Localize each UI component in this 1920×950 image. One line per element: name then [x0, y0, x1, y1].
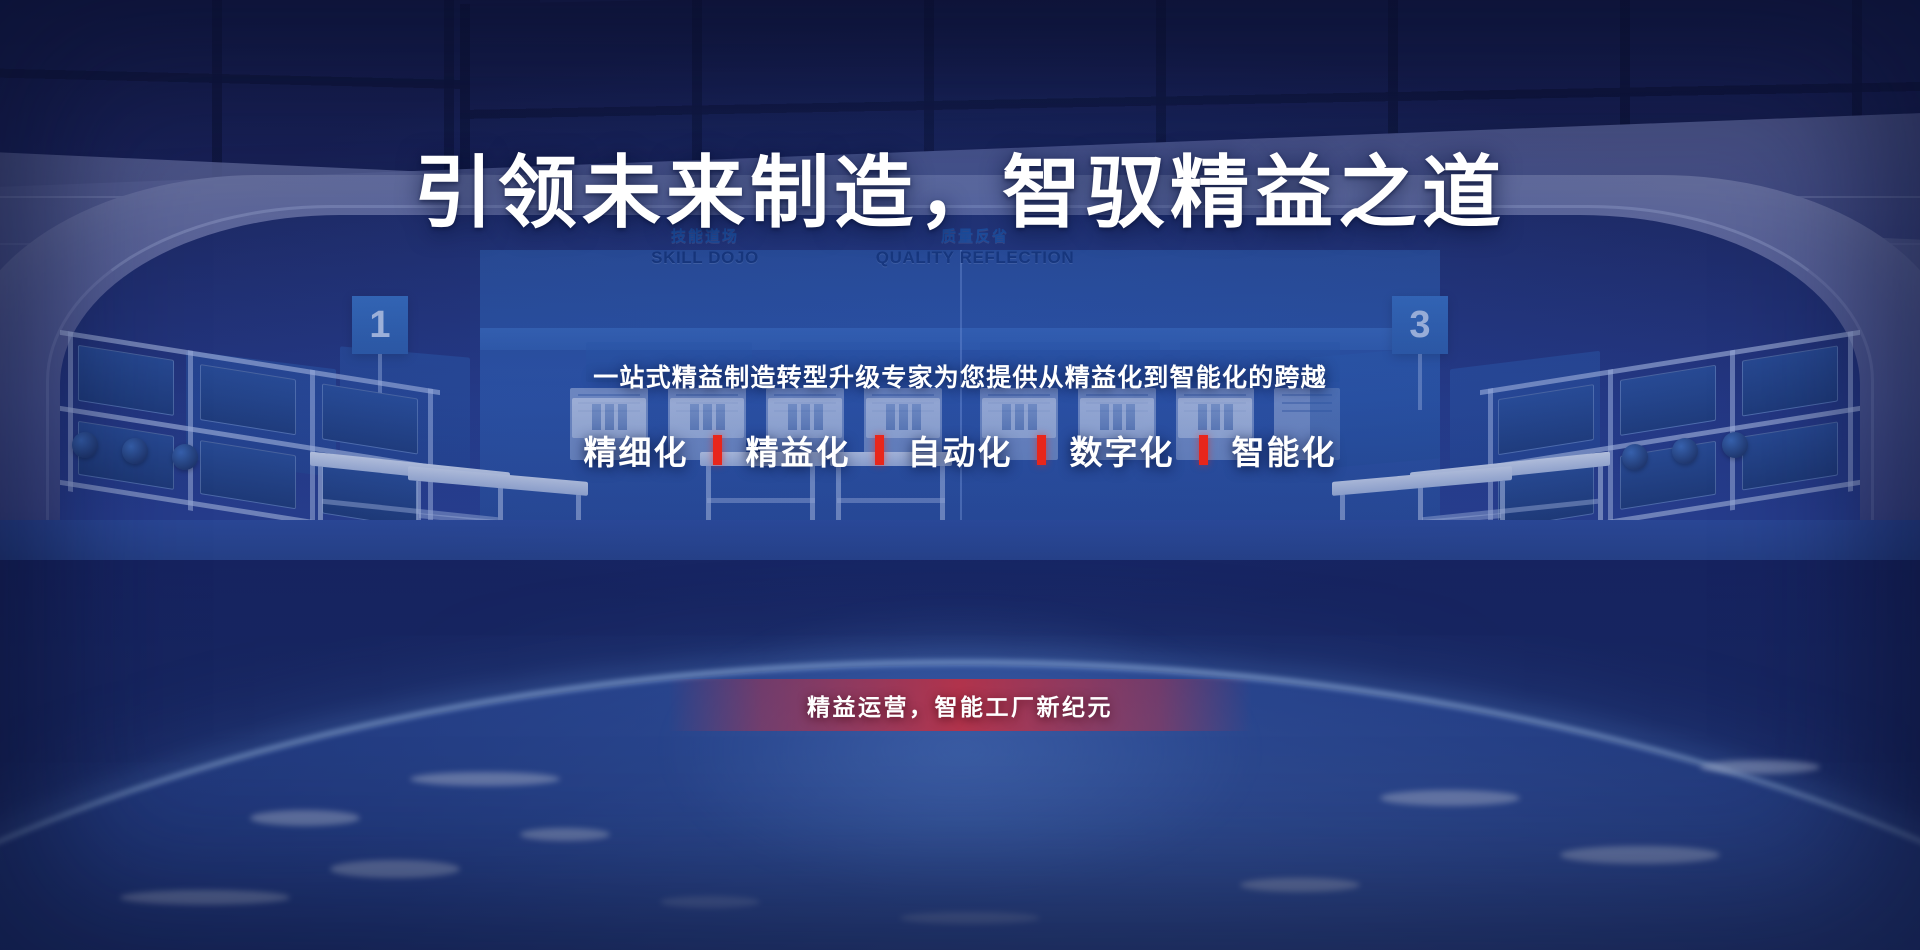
keyword-list: 精细化 精益化 自动化 数字化 智能化	[0, 426, 1920, 474]
keyword-separator-icon-2	[1037, 435, 1046, 465]
keyword-separator-icon-3	[1199, 435, 1208, 465]
bottom-ribbon-label: 精益运营，智能工厂新纪元	[807, 688, 1113, 722]
keyword-item-3: 数字化	[1070, 426, 1175, 474]
hero-banner: 技能道场 SKILL DOJO 质量反省 QUALITY REFLECTION …	[0, 0, 1920, 950]
banner-subtitle: 一站式精益制造转型升级专家为您提供从精益化到智能化的跨越	[0, 358, 1920, 394]
keyword-item-4: 智能化	[1232, 426, 1337, 474]
keyword-item-0: 精细化	[584, 426, 689, 474]
page-title: 引领未来制造，智驭精益之道	[0, 128, 1920, 243]
keyword-item-2: 自动化	[908, 426, 1013, 474]
keyword-item-1: 精益化	[746, 426, 851, 474]
keyword-separator-icon-0	[713, 435, 722, 465]
banner-content: 引领未来制造，智驭精益之道 一站式精益制造转型升级专家为您提供从精益化到智能化的…	[0, 0, 1920, 950]
bottom-ribbon: 精益运营，智能工厂新纪元	[668, 679, 1252, 731]
keyword-separator-icon-1	[875, 435, 884, 465]
